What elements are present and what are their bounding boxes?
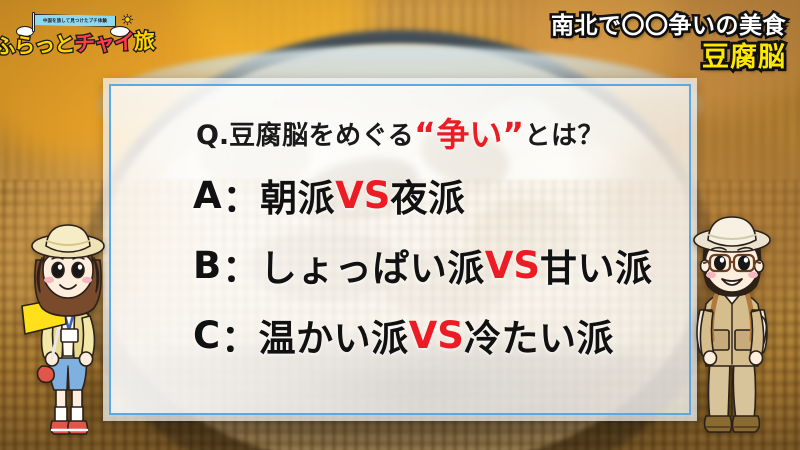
logo-title-part1: ふらっと <box>0 28 75 61</box>
header-topic: 豆腐脳 <box>551 43 786 72</box>
question-prefix: Q. <box>196 120 229 151</box>
quiz-panel-inner: Q.豆腐脳をめぐる“争い”とは？ A：朝派VS夜派 B：しょっぱい派VS甘い派 … <box>109 84 691 415</box>
option-c-colon: ： <box>221 308 259 362</box>
option-b-vs: VS <box>485 244 540 287</box>
option-c-vs: VS <box>409 314 464 357</box>
option-c-right: 冷たい派 <box>464 308 614 362</box>
question-text-part2: とは？ <box>525 121 605 151</box>
quiz-option-c[interactable]: C：温かい派VS冷たい派 <box>111 300 689 370</box>
option-b-colon: ： <box>222 238 260 292</box>
option-a-left: 朝派 <box>260 168 335 222</box>
male-explorer-illustration <box>666 192 798 450</box>
quiz-question: Q.豆腐脳をめぐる“争い”とは？ <box>111 108 689 156</box>
header-subtitle: 南北で〇〇争いの美食 <box>551 14 786 39</box>
option-a-label: A <box>193 174 223 217</box>
quiz-options: A：朝派VS夜派 B：しょっぱい派VS甘い派 C：温かい派VS冷たい派 <box>111 160 689 370</box>
option-c-label: C <box>193 314 221 357</box>
female-guide-illustration <box>6 200 130 450</box>
header-titles: 南北で〇〇争いの美食 豆腐脳 <box>551 14 786 72</box>
logo-banner-text: 中国を旅して見つけたプチ体験 <box>35 15 115 26</box>
program-logo: 中国を旅して見つけたプチ体験 ふらっとチャイ旅 <box>10 8 138 60</box>
option-a-colon: ： <box>223 168 261 222</box>
screenshot-stage: 中国を旅して見つけたプチ体験 ふらっとチャイ旅 南北で〇〇争いの美食 豆腐脳 Q… <box>0 0 800 450</box>
logo-banner: 中国を旅して見つけたプチ体験 <box>34 14 116 27</box>
logo-title-part3: 旅 <box>133 25 154 56</box>
logo-title-part2: チャイ <box>74 26 135 58</box>
question-quote-close: ” <box>502 115 524 154</box>
quiz-option-b[interactable]: B：しょっぱい派VS甘い派 <box>111 230 689 300</box>
question-highlight: 争い <box>436 115 502 154</box>
quiz-option-a[interactable]: A：朝派VS夜派 <box>111 160 689 230</box>
quiz-panel: Q.豆腐脳をめぐる“争い”とは？ A：朝派VS夜派 B：しょっぱい派VS甘い派 … <box>103 78 697 421</box>
option-a-right: 夜派 <box>390 168 465 222</box>
logo-title: ふらっとチャイ旅 <box>10 26 139 60</box>
option-a-vs: VS <box>335 174 390 217</box>
option-b-right: 甘い派 <box>540 238 653 292</box>
question-text-part1: 豆腐脳をめぐる <box>229 121 414 151</box>
option-c-left: 温かい派 <box>259 308 409 362</box>
option-b-left: しょっぱい派 <box>260 238 485 292</box>
female-guide-character <box>6 200 130 450</box>
question-quote-open: “ <box>414 115 436 154</box>
option-b-label: B <box>193 244 222 287</box>
male-explorer-character <box>666 192 798 450</box>
sun-icon <box>121 13 134 26</box>
